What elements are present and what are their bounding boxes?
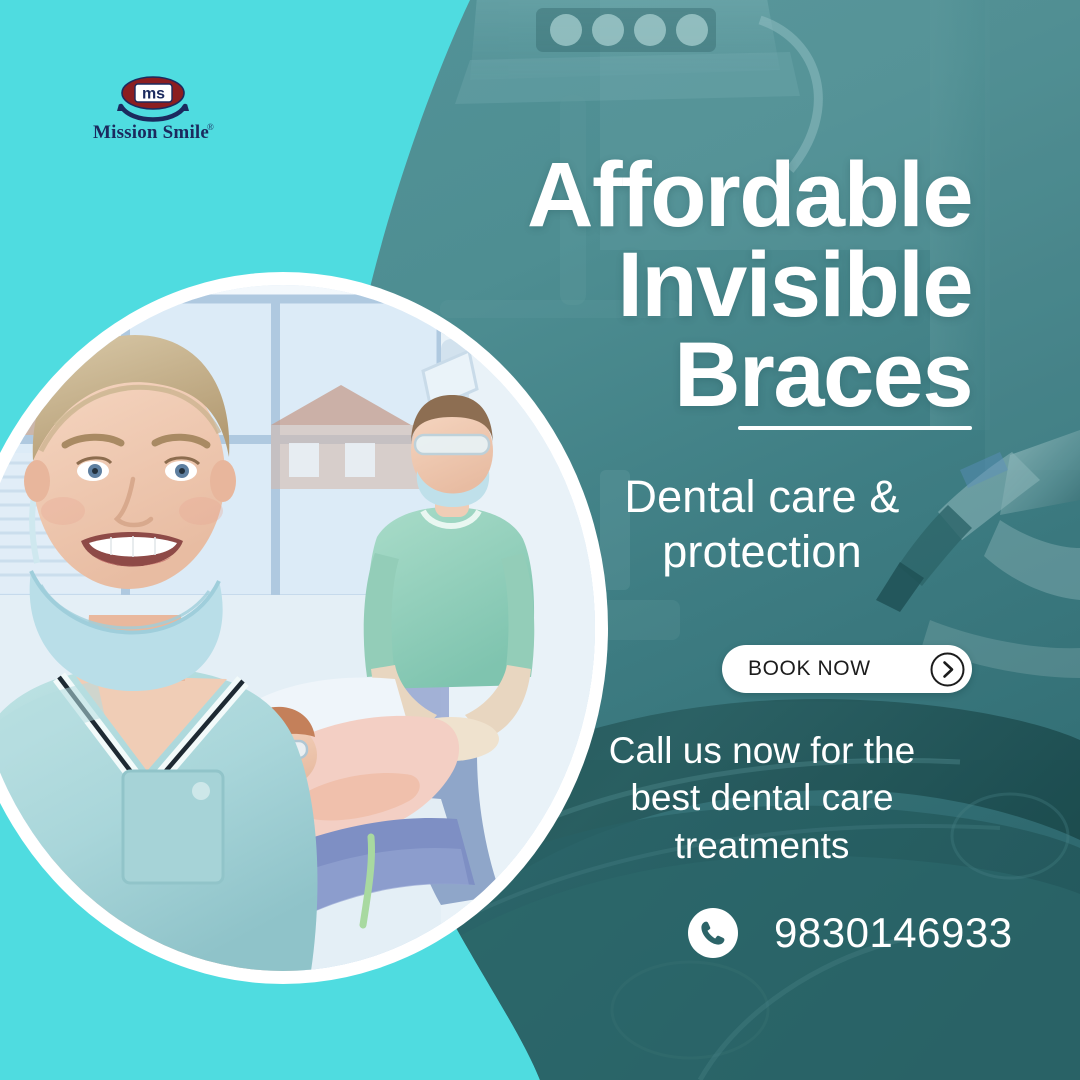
tagline-line-1: Call us now for the: [552, 727, 972, 774]
page-title: Affordable Invisible Braces: [402, 150, 972, 420]
headline-line-3: Braces: [402, 330, 972, 420]
poster-canvas: ms Mission Smile ®: [0, 0, 1080, 1080]
svg-text:ms: ms: [142, 86, 165, 103]
headline-line-1: Affordable: [402, 150, 972, 240]
book-now-button[interactable]: BOOK NOW: [722, 645, 972, 693]
phone-number: 9830146933: [774, 909, 1013, 957]
tagline-line-2: best dental care: [552, 774, 972, 821]
subheadline-line-2: protection: [552, 525, 972, 580]
brand-logo: ms Mission Smile ®: [83, 74, 223, 144]
headline-line-2: Invisible: [402, 240, 972, 330]
content-column: Affordable Invisible Braces Dental care …: [560, 0, 980, 1080]
subheadline: Dental care & protection: [552, 470, 972, 580]
book-now-label: BOOK NOW: [748, 657, 929, 681]
svg-text:®: ®: [207, 122, 214, 132]
chevron-right-circle-icon: [929, 651, 966, 688]
tagline-line-3: treatments: [552, 822, 972, 869]
divider: [738, 426, 972, 430]
subheadline-line-1: Dental care &: [552, 470, 972, 525]
tagline: Call us now for the best dental care tre…: [552, 727, 972, 869]
svg-text:Mission Smile: Mission Smile: [93, 122, 209, 143]
phone-contact[interactable]: 9830146933: [688, 908, 1013, 958]
phone-icon: [688, 908, 738, 958]
